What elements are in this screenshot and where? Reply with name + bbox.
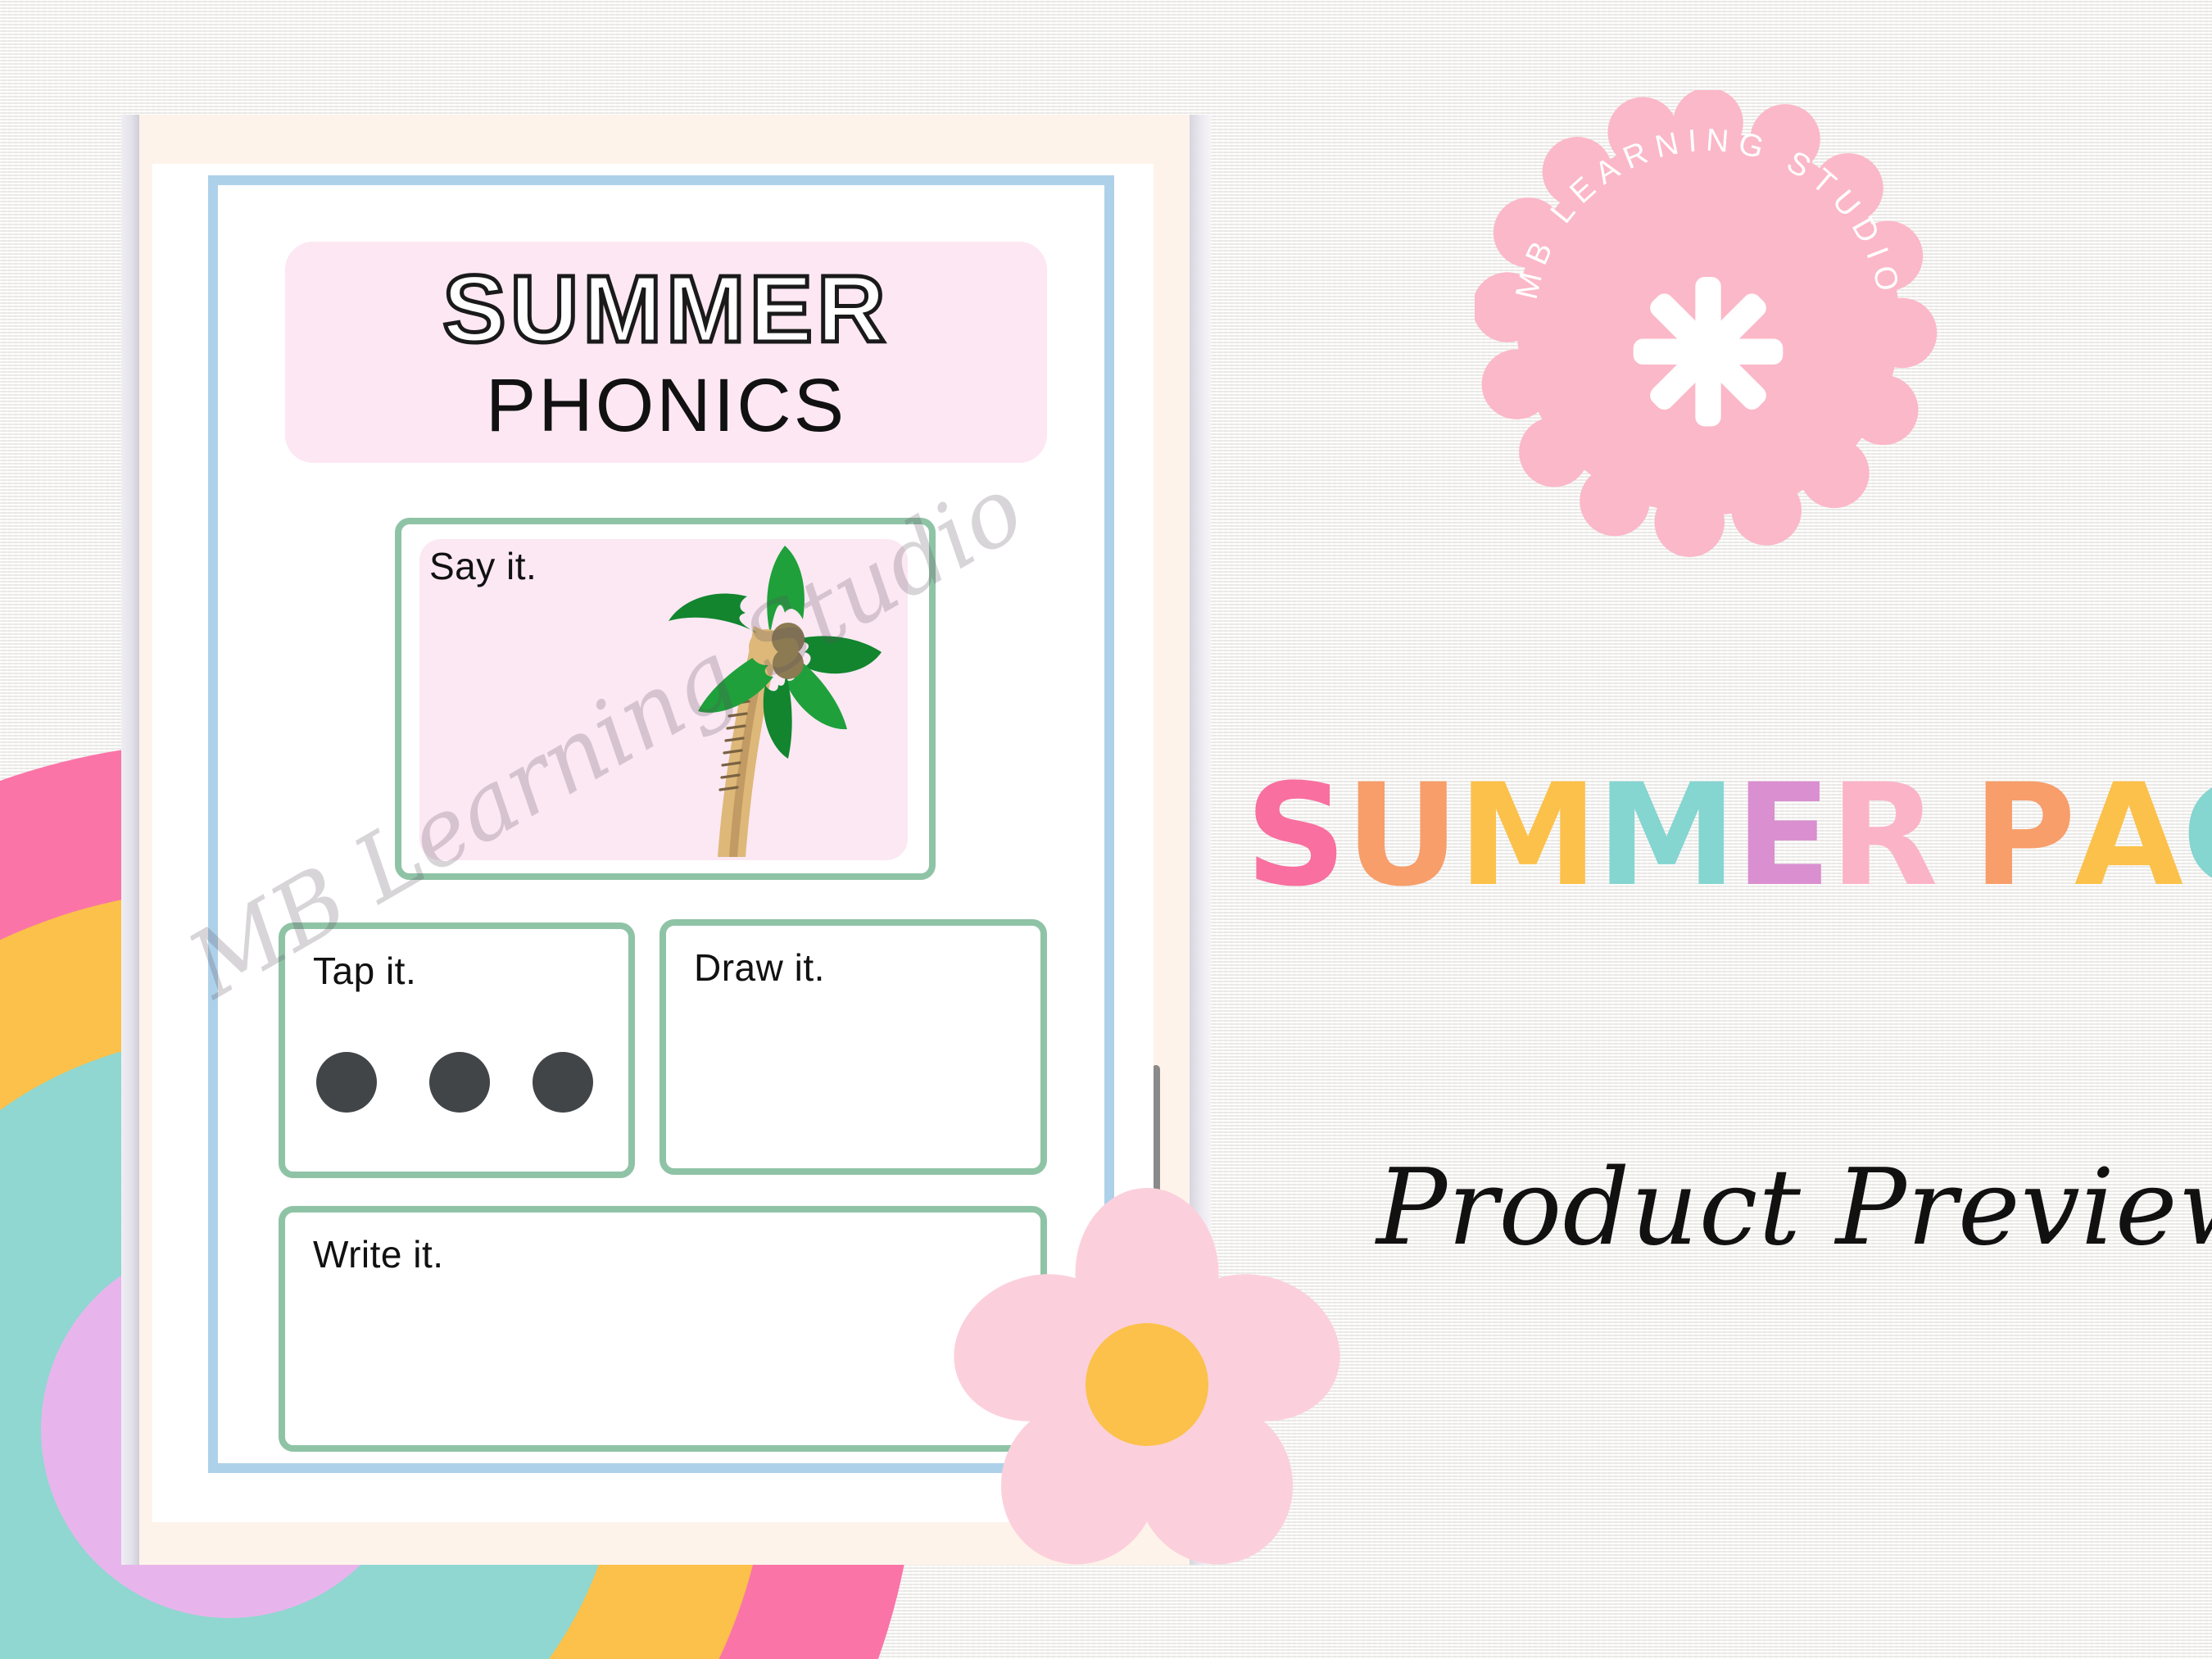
- page-edge-left-shadow: [121, 115, 139, 1565]
- headline-letter-m-3: M: [1597, 762, 1735, 909]
- palm-tree-icon: [593, 539, 908, 860]
- worksheet-box-say-label: Say it.: [429, 544, 537, 588]
- worksheet-box-write[interactable]: Write it.: [279, 1206, 1047, 1452]
- worksheet-box-say[interactable]: Say it.: [395, 518, 936, 880]
- preview-canvas: Created by MB Learning Studio SUMMER PHO…: [0, 0, 2212, 1659]
- headline-letter-c-9: C: [2182, 762, 2212, 909]
- worksheet-box-tap-label: Tap it.: [313, 949, 416, 993]
- headline-letter-e-4: E: [1735, 762, 1830, 909]
- headline-letter-a-8: A: [2074, 762, 2182, 909]
- headline-letter-r-5: R: [1829, 762, 1936, 909]
- worksheet-title-banner: SUMMER PHONICS: [285, 242, 1047, 463]
- headline-letter-m-2: M: [1458, 762, 1597, 909]
- worksheet-box-draw-label: Draw it.: [694, 945, 825, 990]
- worksheet-box-draw[interactable]: Draw it.: [660, 919, 1047, 1175]
- tap-dot[interactable]: [533, 1052, 593, 1113]
- worksheet-box-write-label: Write it.: [313, 1232, 444, 1276]
- worksheet-box-tap[interactable]: Tap it.: [279, 922, 635, 1178]
- headline-space: [1937, 762, 1973, 909]
- tap-dots-group[interactable]: [300, 1052, 628, 1117]
- worksheet-title-main: SUMMER: [442, 261, 890, 356]
- tap-dot[interactable]: [429, 1052, 490, 1113]
- summer-pack-headline: SUMMER PACK: [1245, 762, 2171, 909]
- pink-daisy-flower-icon: [942, 1180, 1352, 1589]
- mb-learning-studio-badge: MB LEARNING STUDIO: [1475, 90, 1942, 557]
- headline-letter-p-7: P: [1973, 762, 2074, 909]
- worksheet-title-sub: PHONICS: [486, 368, 846, 443]
- headline-letter-u-1: U: [1345, 762, 1458, 909]
- headline-letter-s-0: S: [1245, 762, 1345, 909]
- asterisk-starburst-icon: [1634, 277, 1783, 426]
- tap-dot[interactable]: [316, 1052, 377, 1113]
- flower-center: [1086, 1323, 1208, 1446]
- product-preview-label: Product Preview: [1376, 1147, 2212, 1269]
